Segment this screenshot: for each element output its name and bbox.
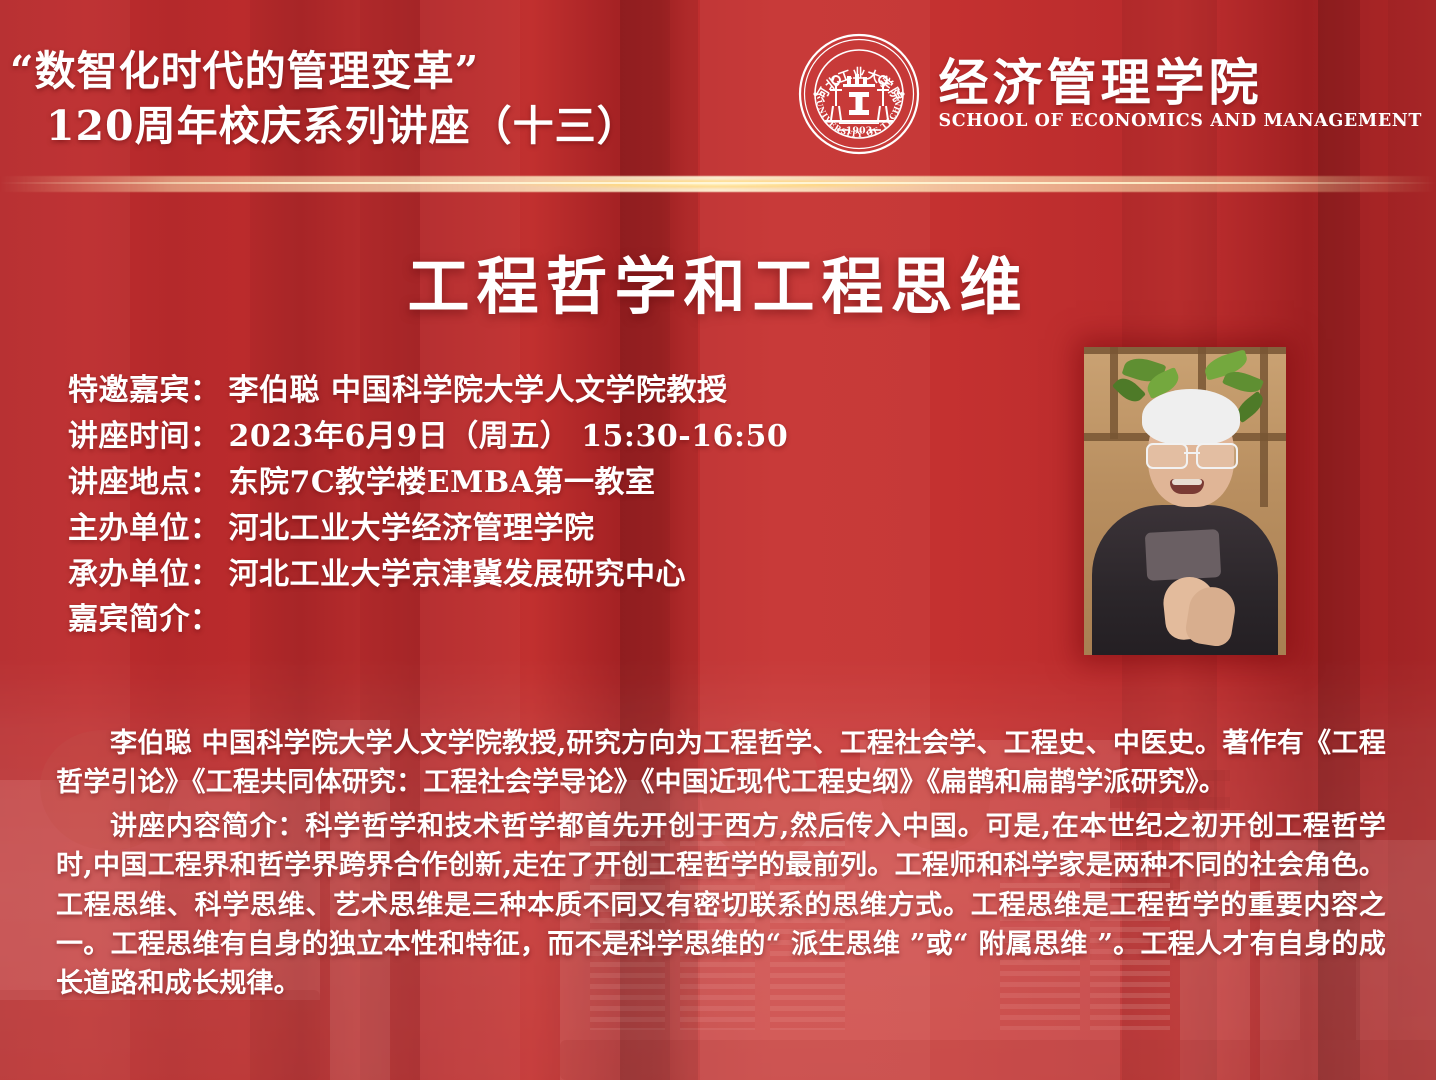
lecture-title: 工程哲学和工程思维 xyxy=(0,236,1436,326)
info-row-location: 讲座地点： 东院7C教学楼EMBA第一教室 xyxy=(68,460,1068,506)
series-title-line1: “数智化时代的管理变革” xyxy=(10,47,479,95)
lecture-poster: “数智化时代的管理变革” 120周年校庆系列讲座（十三） 河北工业大学院 HEB… xyxy=(0,0,1436,1080)
gold-light-core xyxy=(0,182,1436,184)
info-value: 东院7C教学楼EMBA第一教室 xyxy=(221,460,656,506)
info-row-time: 讲座时间： 2023年6月9日（周五） 15:30-16:50 xyxy=(68,414,1068,460)
info-label: 主办单位： xyxy=(68,506,221,552)
gold-light-divider xyxy=(0,176,1436,192)
school-brand: 河北工业大学院 HEBEI UNIVERSITY OF TECHNOLOGY xyxy=(797,32,1423,156)
poster-header: “数智化时代的管理变革” 120周年校庆系列讲座（十三） 河北工业大学院 HEB… xyxy=(0,0,1436,178)
series-title: “数智化时代的管理变革” 120周年校庆系列讲座（十三） xyxy=(10,44,780,153)
brand-name-en: SCHOOL OF ECONOMICS AND MANAGEMENT xyxy=(939,111,1423,131)
series-title-line2: 120周年校庆系列讲座（十三） xyxy=(10,99,780,154)
info-row-co-organizer: 承办单位： 河北工业大学京津冀发展研究中心 xyxy=(68,552,1068,598)
speaker-photo-image xyxy=(1084,347,1286,655)
info-row-organizer: 主办单位： 河北工业大学经济管理学院 xyxy=(68,506,1068,552)
info-value: 河北工业大学经济管理学院 xyxy=(221,506,595,552)
info-value: 2023年6月9日（周五） 15:30-16:50 xyxy=(221,414,789,460)
paragraph-lecture-abstract: 讲座内容简介：科学哲学和技术哲学都首先开创于西方,然后传入中国。可是,在本世纪之… xyxy=(56,807,1386,1004)
info-label: 承办单位： xyxy=(68,552,221,598)
lecture-description: 李伯聪 中国科学院大学人文学院教授,研究方向为工程哲学、工程社会学、工程史、中医… xyxy=(56,724,1386,1008)
info-row-guest: 特邀嘉宾： 李伯聪 中国科学院大学人文学院教授 xyxy=(68,368,1068,414)
info-label: 嘉宾简介： xyxy=(68,597,221,643)
university-seal-icon: 河北工业大学院 HEBEI UNIVERSITY OF TECHNOLOGY xyxy=(797,32,921,156)
info-value: 河北工业大学京津冀发展研究中心 xyxy=(221,552,687,598)
info-label: 讲座时间： xyxy=(68,414,221,460)
speaker-photo xyxy=(1084,347,1286,655)
brand-name-cn: 经济管理学院 xyxy=(939,57,1263,109)
info-row-guest-bio-heading: 嘉宾简介： xyxy=(68,597,1068,643)
lecture-info-list: 特邀嘉宾： 李伯聪 中国科学院大学人文学院教授 讲座时间： 2023年6月9日（… xyxy=(68,368,1068,643)
info-label: 特邀嘉宾： xyxy=(68,368,221,414)
brand-text: 经济管理学院 SCHOOL OF ECONOMICS AND MANAGEMEN… xyxy=(939,57,1423,131)
paragraph-speaker-bio: 李伯聪 中国科学院大学人文学院教授,研究方向为工程哲学、工程社会学、工程史、中医… xyxy=(56,724,1386,803)
info-value: 李伯聪 中国科学院大学人文学院教授 xyxy=(221,368,728,414)
info-label: 讲座地点： xyxy=(68,460,221,506)
seal-year: 1903 xyxy=(845,126,871,137)
